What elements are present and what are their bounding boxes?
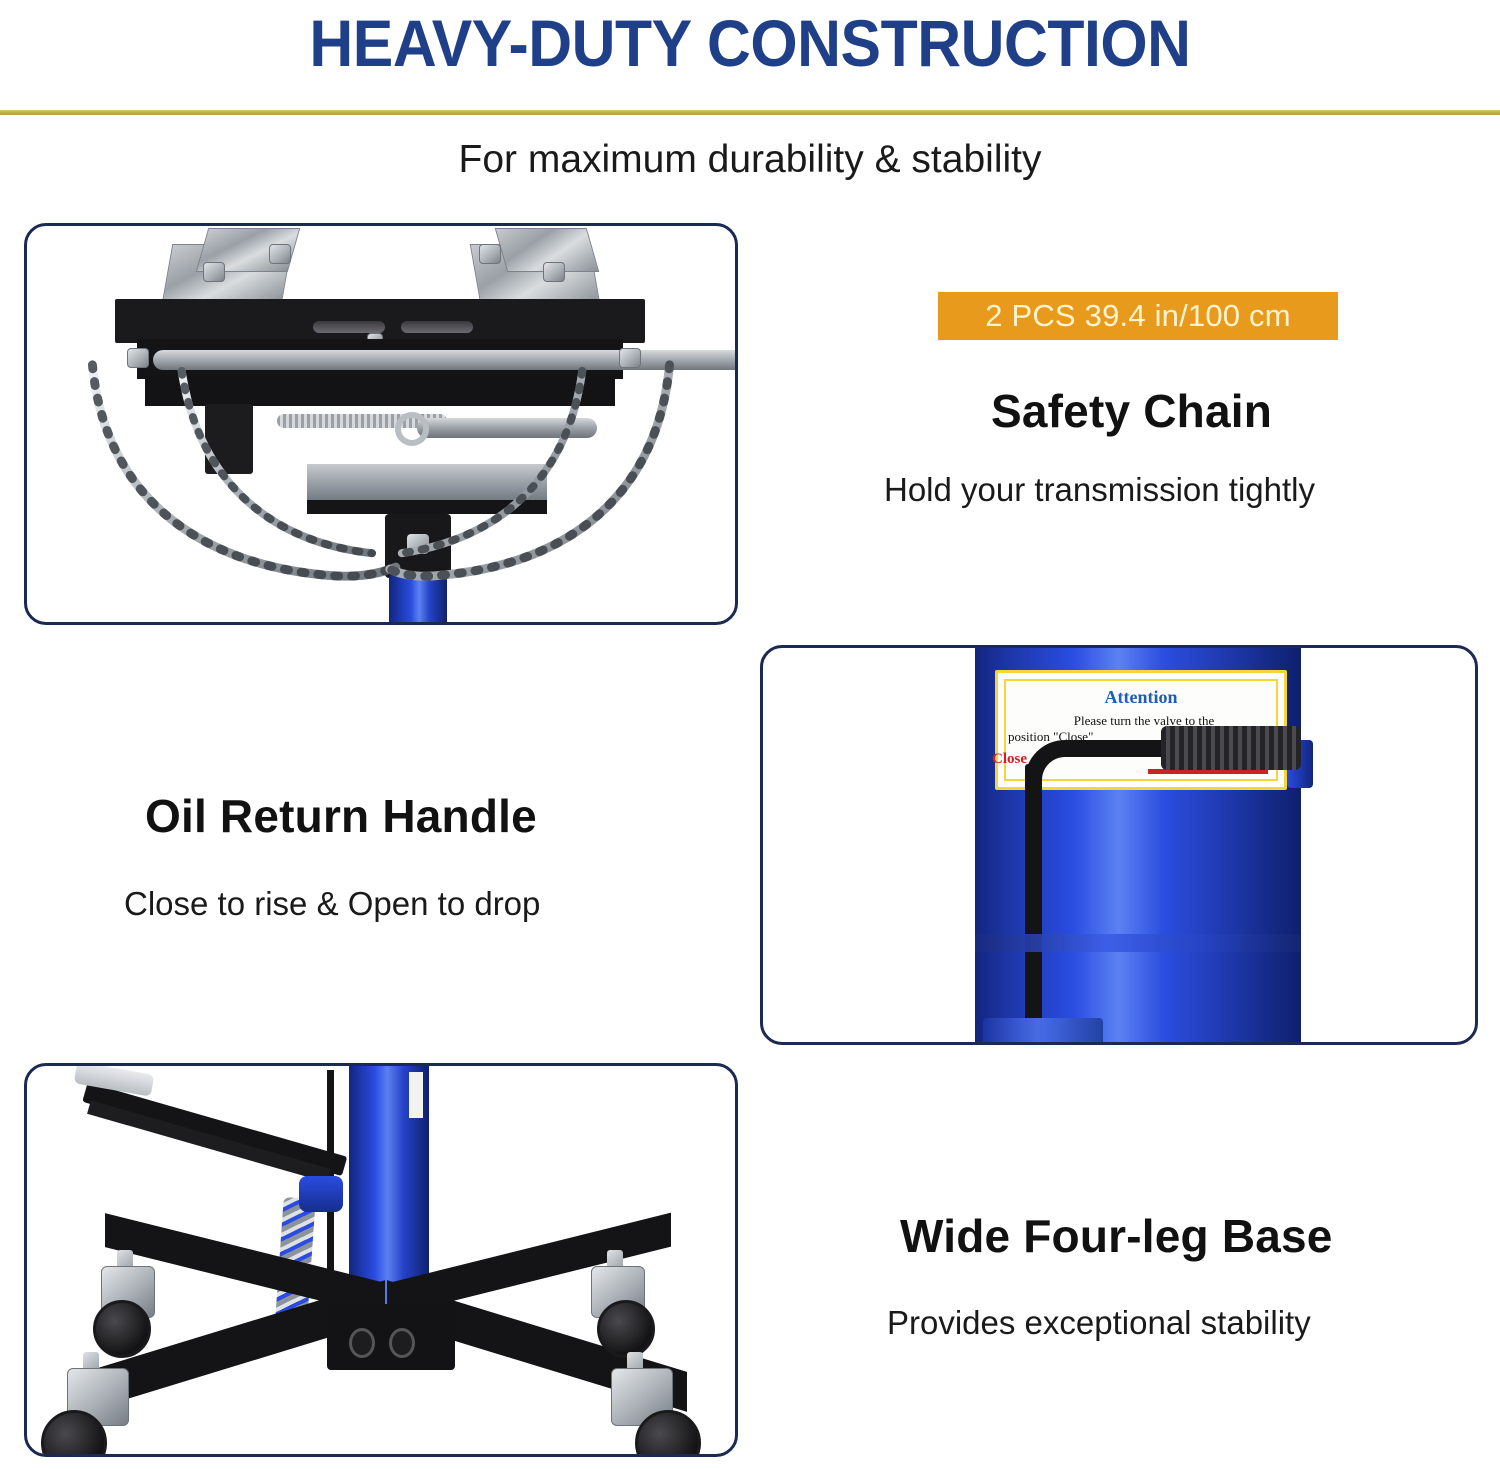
saddle-photo [27,226,735,622]
caster-wheel [93,1300,151,1358]
cylinder-spec-sticker [409,1072,423,1118]
feature-image-panel-safety-chain [24,223,738,625]
valve-handle-retainer-bracket [983,1018,1103,1045]
badge-safety-chain-spec: 2 PCS 39.4 in/100 cm [938,292,1338,340]
base-photo [27,1066,735,1454]
warning-emphasis-close: Close [992,751,1027,768]
page-subtitle: For maximum durability & stability [0,134,1500,186]
feature-title-oil-return-handle: Oil Return Handle [145,790,537,842]
valve-handle-vertical-arm [1025,764,1042,1045]
valve-handle-ribbed-grip [1161,726,1301,770]
header-divider [0,110,1500,115]
base-hub-hole [349,1328,375,1358]
cylinder-weld-collar [975,934,1301,952]
page-title: HEAVY-DUTY CONSTRUCTION [60,6,1440,80]
feature-image-panel-wide-four-leg-base [24,1063,738,1457]
caster-wheel [597,1300,655,1358]
warning-heading: Attention [998,687,1284,708]
feature-title-safety-chain: Safety Chain [991,385,1272,437]
feature-subtitle-oil-return-handle: Close to rise & Open to drop [124,884,540,924]
feature-title-wide-four-leg-base: Wide Four-leg Base [900,1210,1333,1262]
base-hub-hole [389,1328,415,1358]
pedal-pivot-joint [299,1176,343,1212]
feature-subtitle-safety-chain: Hold your transmission tightly [884,470,1315,510]
safety-chain-graphic [27,226,735,625]
feature-subtitle-wide-four-leg-base: Provides exceptional stability [887,1303,1311,1343]
feature-image-panel-oil-return-handle: Attention Please turn the valve to the p… [760,645,1478,1045]
valve-photo: Attention Please turn the valve to the p… [763,648,1475,1042]
